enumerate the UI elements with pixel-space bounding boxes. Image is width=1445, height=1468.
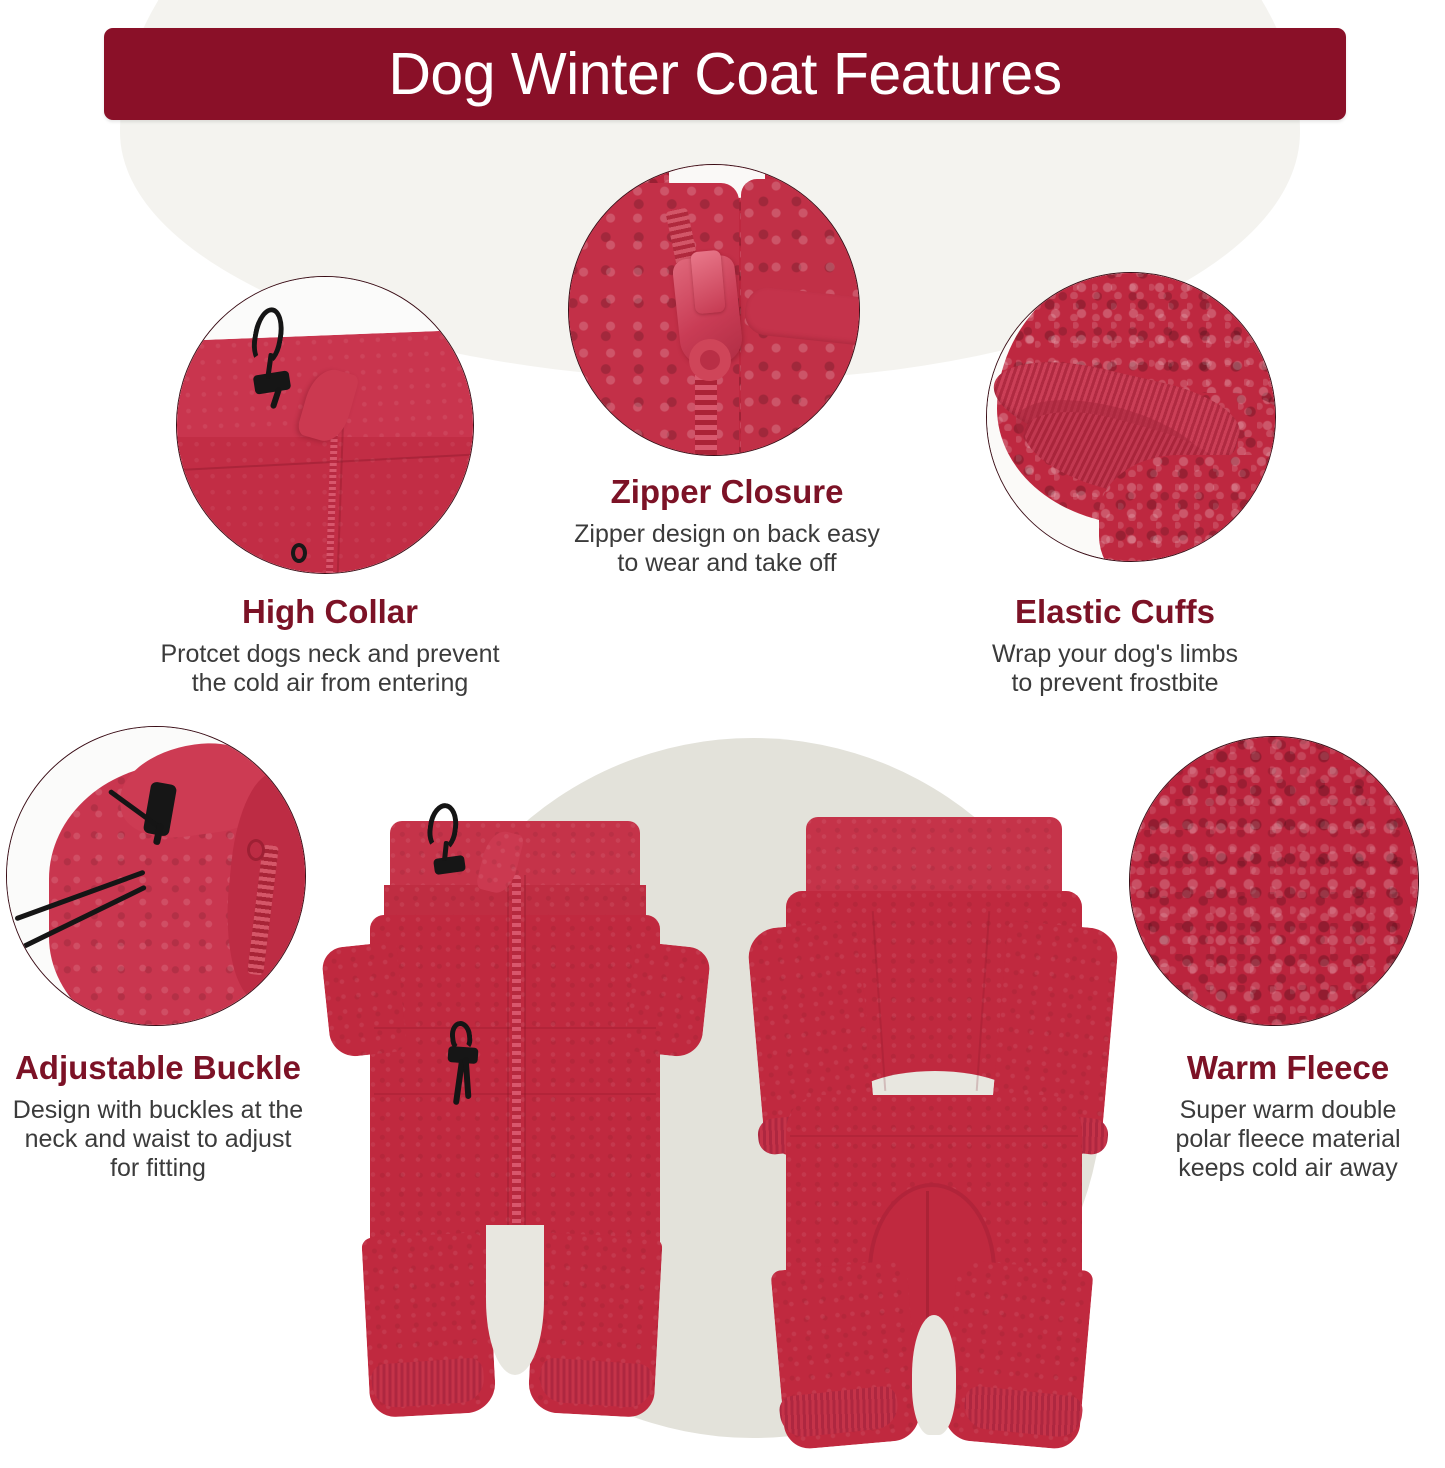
feature-photo-high-collar xyxy=(176,276,474,574)
feature-photo-warm-fleece xyxy=(1129,736,1419,1026)
caption-warm-fleece: Warm Fleece Super warm double polar flee… xyxy=(1138,1050,1438,1183)
feature-description-elastic-cuffs: Wrap your dog's limbs to prevent frostbi… xyxy=(935,640,1295,698)
feature-photo-zipper-closure xyxy=(568,164,860,456)
caption-zipper-closure: Zipper Closure Zipper design on back eas… xyxy=(502,474,952,578)
caption-high-collar: High Collar Protcet dogs neck and preven… xyxy=(110,594,550,698)
feature-title-adjustable-buckle: Adjustable Buckle xyxy=(0,1050,316,1087)
feature-photo-elastic-cuffs xyxy=(986,272,1276,562)
caption-elastic-cuffs: Elastic Cuffs Wrap your dog's limbs to p… xyxy=(935,594,1295,698)
feature-title-warm-fleece: Warm Fleece xyxy=(1138,1050,1438,1087)
feature-title-high-collar: High Collar xyxy=(110,594,550,631)
feature-photo-adjustable-buckle xyxy=(6,726,306,1026)
feature-description-zipper-closure: Zipper design on back easy to wear and t… xyxy=(502,520,952,578)
infographic-canvas: Dog Winter Coat Features xyxy=(0,0,1445,1468)
feature-description-warm-fleece: Super warm double polar fleece material … xyxy=(1138,1096,1438,1183)
feature-title-zipper-closure: Zipper Closure xyxy=(502,474,952,511)
feature-description-adjustable-buckle: Design with buckles at the neck and wais… xyxy=(0,1096,316,1183)
header-banner: Dog Winter Coat Features xyxy=(104,28,1346,120)
product-back-view xyxy=(720,795,1140,1445)
feature-title-elastic-cuffs: Elastic Cuffs xyxy=(935,594,1295,631)
product-front-view xyxy=(300,795,720,1445)
caption-adjustable-buckle: Adjustable Buckle Design with buckles at… xyxy=(0,1050,316,1183)
feature-description-high-collar: Protcet dogs neck and prevent the cold a… xyxy=(110,640,550,698)
page-title: Dog Winter Coat Features xyxy=(388,45,1061,104)
